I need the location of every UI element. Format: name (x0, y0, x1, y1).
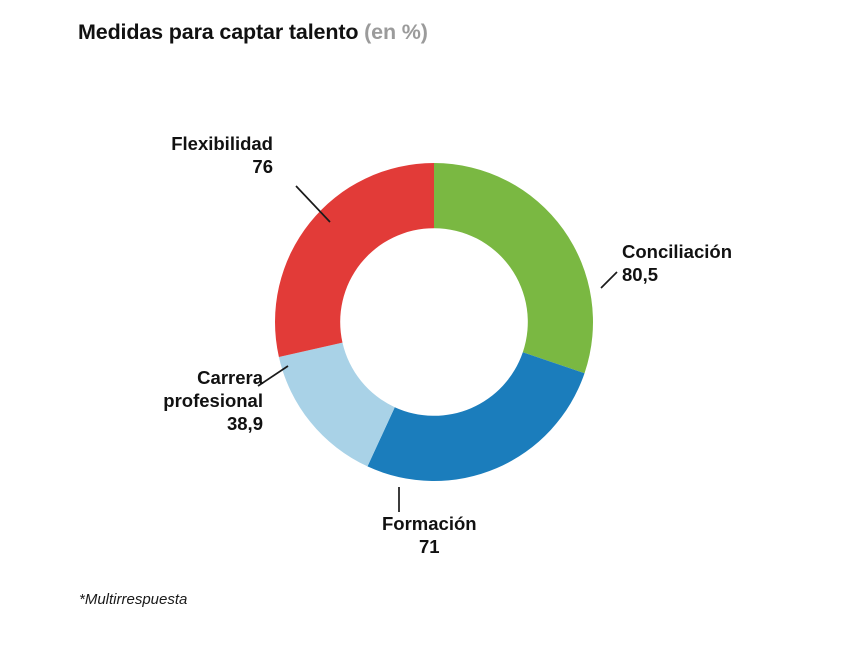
page-title-main: Medidas para captar talento (78, 20, 358, 44)
slice-label-carrera-profesional-value: 38,9 (163, 413, 263, 436)
donut-chart (275, 163, 593, 481)
slice-label-conciliacion: Conciliación 80,5 (622, 241, 732, 287)
donut-chart-svg (275, 163, 593, 481)
slice-label-flexibilidad-value: 76 (171, 156, 273, 179)
slice-label-carrera-profesional: Carrera profesional 38,9 (163, 367, 263, 436)
slice-label-carrera-profesional-name-line1: Carrera (163, 367, 263, 390)
slice-label-carrera-profesional-name-line2: profesional (163, 390, 263, 413)
footnote: *Multirrespuesta (79, 591, 187, 608)
slice-label-formacion: Formación 71 (382, 513, 477, 559)
slice-label-flexibilidad: Flexibilidad 76 (171, 133, 273, 179)
slice-label-flexibilidad-name: Flexibilidad (171, 133, 273, 156)
slice-label-conciliacion-name: Conciliación (622, 241, 732, 264)
donut-slice-flexibilidad[interactable] (275, 163, 434, 357)
slice-label-formacion-name: Formación (382, 513, 477, 536)
donut-slice-formacion[interactable] (367, 352, 584, 481)
chart-canvas: Medidas para captar talento (en %) Flexi… (0, 0, 846, 657)
page-title-unit: (en %) (364, 20, 428, 44)
leader-line-conciliacion (601, 272, 617, 288)
page-title: Medidas para captar talento (en %) (78, 20, 428, 46)
slice-label-conciliacion-value: 80,5 (622, 264, 732, 287)
slice-label-formacion-value: 71 (382, 536, 477, 559)
donut-slice-conciliacion[interactable] (434, 163, 593, 373)
